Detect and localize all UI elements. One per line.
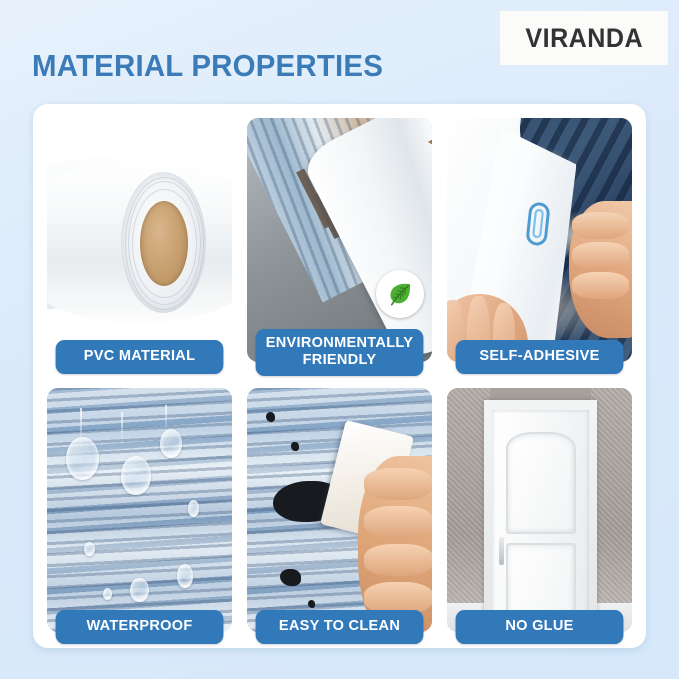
water-droplet-4	[130, 578, 149, 602]
door-panel-top	[506, 432, 576, 534]
self-adhesive-image	[447, 118, 632, 362]
infographic-root: VIRANDA MATERIAL PROPERTIES PVC MATERIAL	[0, 0, 679, 679]
feature-grid: PVC MATERIAL	[47, 118, 632, 632]
hand-holding-sponge	[358, 456, 432, 632]
water-droplet-6	[84, 542, 95, 556]
page-title: MATERIAL PROPERTIES	[32, 48, 383, 84]
water-droplet-8	[188, 500, 199, 517]
feature-cell-environmentally-friendly[interactable]: ENVIRONMENTALLY FRIENDLY	[247, 118, 432, 362]
feature-cell-pvc-material[interactable]: PVC MATERIAL	[47, 118, 232, 362]
droplet-trail-3	[165, 405, 167, 429]
water-droplet-3	[160, 429, 182, 458]
water-droplet-2	[121, 456, 151, 495]
paperclip-icon	[522, 200, 553, 248]
no-glue-door-image	[447, 388, 632, 632]
right-hand	[569, 201, 632, 338]
feature-cell-self-adhesive[interactable]: SELF-ADHESIVE	[447, 118, 632, 362]
feature-cell-easy-to-clean[interactable]: EASY TO CLEAN	[247, 388, 432, 632]
brand-logo-text: VIRANDA	[525, 23, 643, 54]
stain-spot-4	[280, 569, 300, 586]
stain-spot-2	[291, 442, 298, 452]
feature-label-line-1: ENVIRONMENTALLY	[266, 334, 413, 351]
water-droplet-1	[66, 437, 99, 480]
feature-label-pvc-material: PVC MATERIAL	[56, 340, 224, 374]
feature-cell-waterproof[interactable]: WATERPROOF	[47, 388, 232, 632]
feature-label-environmentally-friendly: ENVIRONMENTALLY FRIENDLY	[256, 329, 424, 376]
stain-spot-1	[266, 412, 275, 422]
eco-wallpaper-image	[247, 118, 432, 362]
door-handle	[499, 537, 504, 566]
feature-label-waterproof: WATERPROOF	[56, 610, 224, 644]
brand-logo: VIRANDA	[500, 11, 668, 65]
easy-to-clean-image	[247, 388, 432, 632]
feature-cell-no-glue[interactable]: NO GLUE	[447, 388, 632, 632]
pvc-roll-image	[47, 118, 232, 362]
droplet-trail-2	[121, 412, 123, 444]
feature-label-line-2: FRIENDLY	[303, 351, 377, 368]
waterproof-image	[47, 388, 232, 632]
wall-right	[591, 388, 632, 632]
eco-leaf-icon	[376, 270, 424, 318]
stain-spot-5	[308, 600, 315, 607]
roll-core-tube	[140, 201, 188, 286]
door-slab	[492, 410, 589, 632]
water-droplet-5	[177, 564, 194, 588]
water-droplet-7	[103, 588, 112, 600]
feature-label-self-adhesive: SELF-ADHESIVE	[456, 340, 624, 374]
curl-corner-tip	[427, 132, 432, 168]
feature-label-easy-to-clean: EASY TO CLEAN	[256, 610, 424, 644]
feature-label-no-glue: NO GLUE	[456, 610, 624, 644]
